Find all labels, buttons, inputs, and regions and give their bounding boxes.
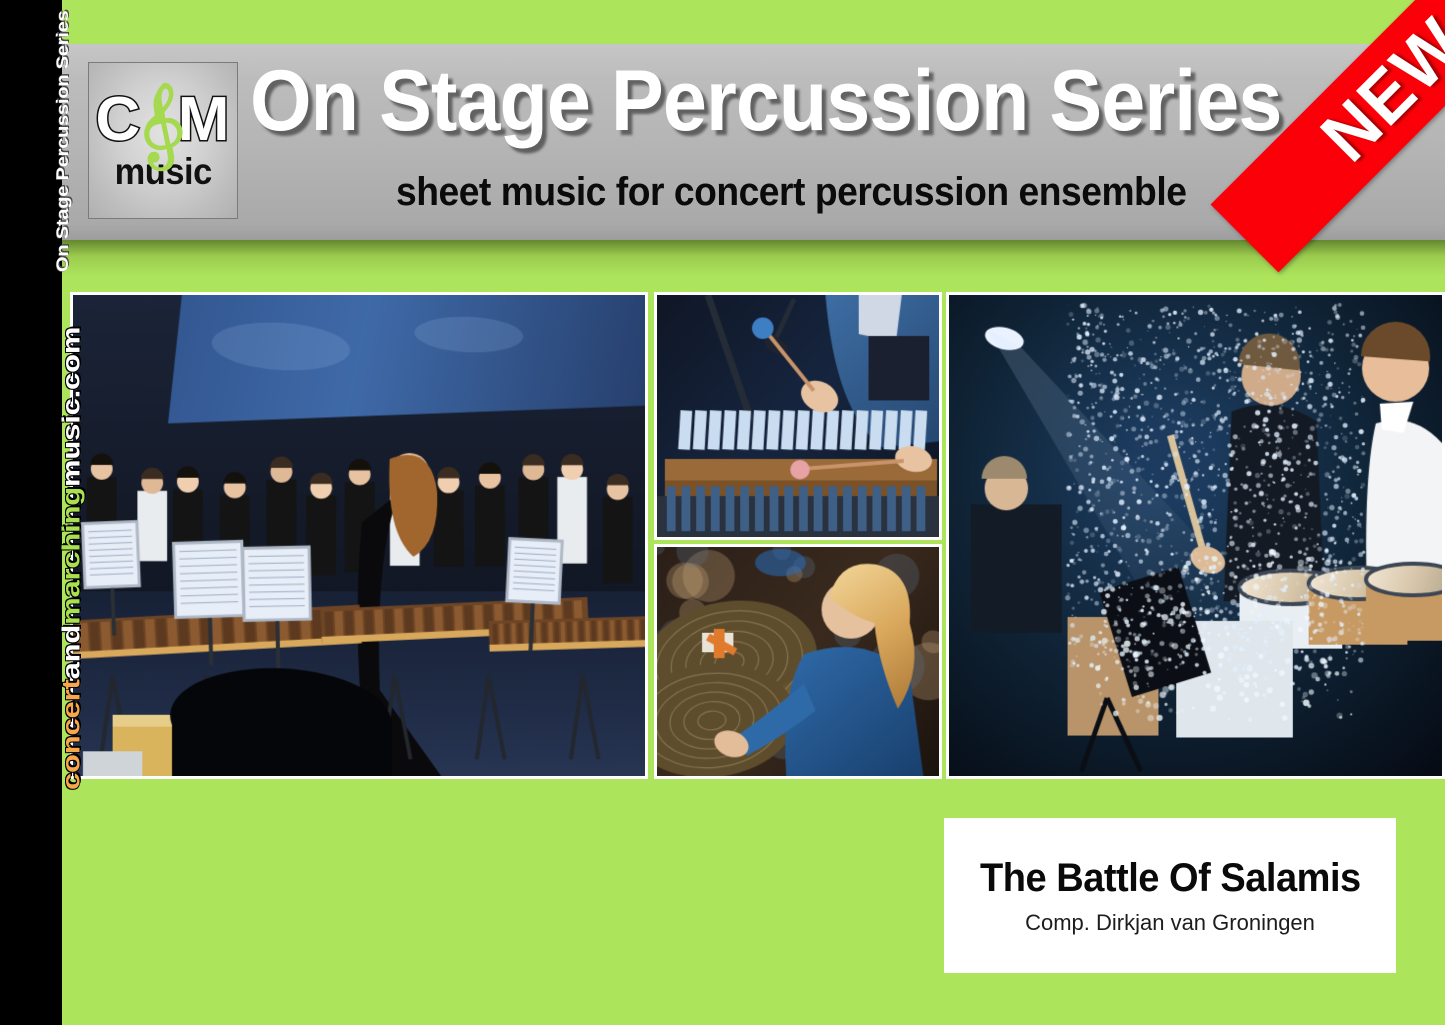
photo-collage [70,292,1445,779]
photo-ensemble-stage [70,292,648,779]
spine-series-label: On Stage Percussion Series [54,10,73,272]
logo-letters: C M [96,94,231,147]
piece-title-card: The Battle Of Salamis Comp. Dirkjan van … [944,818,1396,973]
piece-title: The Battle Of Salamis [980,856,1361,901]
url-part-and: and [57,625,85,680]
header-banner-shadow [62,240,1445,276]
piece-composer: Comp. Dirkjan van Groningen [1025,910,1315,936]
photo-crash-cymbals [654,544,942,779]
spine-website-url: concertandmarchingmusic.com [57,327,86,790]
photo-vibraphone [654,292,942,540]
page-title: On Stage Percussion Series [250,58,1281,144]
treble-clef-icon [136,80,188,176]
url-part-musicdotcom: music.com [57,327,85,487]
page-subtitle: sheet music for concert percussion ensem… [396,170,1186,215]
sheet-music-cover: C M music On Stage Percussion Series she… [0,0,1445,1025]
spine-bar: On Stage Percussion Series concertandmar… [0,0,62,1025]
logo-letter-c: C [96,85,142,154]
url-part-concert: concert [57,679,85,790]
photo-water-drums [946,292,1445,779]
cm-music-logo: C M music [88,62,238,219]
url-part-marching: marching [57,487,85,625]
